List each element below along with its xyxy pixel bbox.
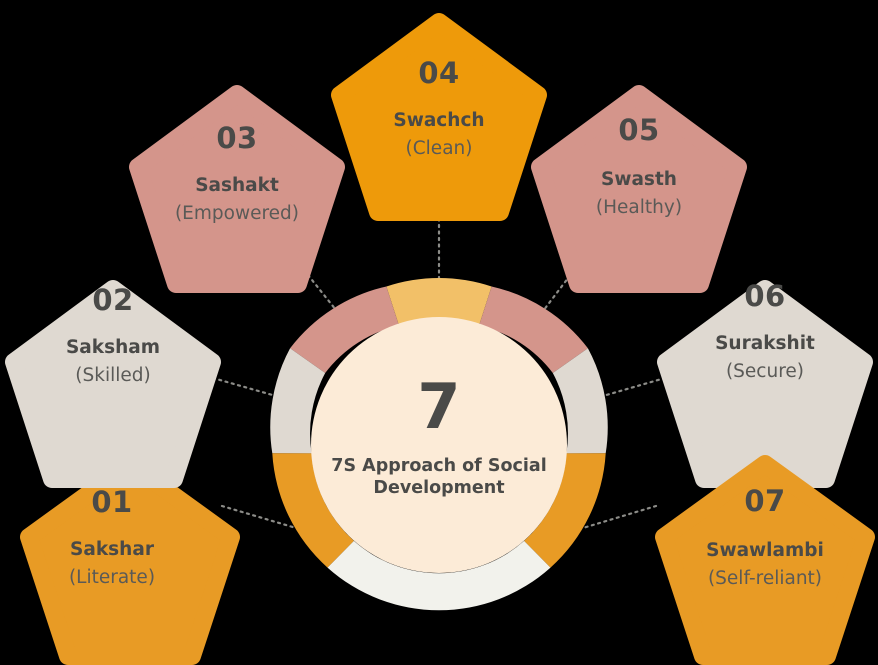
pentagon-01-number: 01 <box>91 485 132 519</box>
pentagon-01-subtitle: (Literate) <box>69 567 155 588</box>
center-donut-ring <box>270 278 607 610</box>
pentagon-03-sashakt[interactable]: 03 Sashakt (Empowered) <box>138 94 336 284</box>
pentagon-07-title: Swawlambi <box>706 540 824 561</box>
pentagon-01-title: Sakshar <box>70 539 155 560</box>
pentagon-02-title: Saksham <box>66 337 160 358</box>
pentagon-06-shape[interactable] <box>666 289 864 479</box>
pentagon-02-subtitle: (Skilled) <box>75 365 150 386</box>
pentagon-03-subtitle: (Empowered) <box>175 203 299 224</box>
pentagon-03-number: 03 <box>216 121 257 155</box>
center-caption-line2: Development <box>373 478 504 498</box>
pentagon-02-number: 02 <box>92 283 133 317</box>
pentagon-03-title: Sashakt <box>195 175 279 196</box>
pentagon-07-subtitle: (Self-reliant) <box>708 568 822 589</box>
pentagon-06-surakshit[interactable]: 06 Surakshit (Secure) <box>666 279 864 479</box>
pentagon-05-swasth[interactable]: 05 Swasth (Healthy) <box>540 94 738 284</box>
pentagon-07-number: 07 <box>744 484 785 518</box>
pentagon-07-swawlambi[interactable]: 07 Swawlambi (Self-reliant) <box>664 464 866 656</box>
seven-s-diagram: 7 7S Approach of Social Development 01 S… <box>0 0 878 665</box>
pentagon-02-saksham[interactable]: 02 Saksham (Skilled) <box>14 283 212 479</box>
pentagon-04-title: Swachch <box>393 110 484 131</box>
pentagon-06-title: Surakshit <box>715 333 815 354</box>
connector-line-07 <box>583 506 656 528</box>
pentagon-04-subtitle: (Clean) <box>406 138 473 159</box>
pentagon-05-title: Swasth <box>601 169 677 190</box>
center-disc <box>311 317 567 573</box>
connector-line-02 <box>213 378 283 398</box>
pentagon-06-number: 06 <box>744 279 785 313</box>
connector-line-01 <box>222 506 296 528</box>
pentagon-06-subtitle: (Secure) <box>726 361 804 382</box>
center-number: 7 <box>417 370 460 443</box>
infographic-canvas: 7 7S Approach of Social Development 01 S… <box>0 0 878 665</box>
connector-line-06 <box>596 378 665 398</box>
pentagon-04-swachch[interactable]: 04 Swachch (Clean) <box>340 22 538 212</box>
pentagon-05-number: 05 <box>618 113 659 147</box>
center-caption-line1: 7S Approach of Social <box>331 456 546 476</box>
pentagon-01-sakshar[interactable]: 01 Sakshar (Literate) <box>29 464 231 656</box>
pentagon-05-subtitle: (Healthy) <box>596 197 682 218</box>
pentagon-04-number: 04 <box>418 56 459 90</box>
